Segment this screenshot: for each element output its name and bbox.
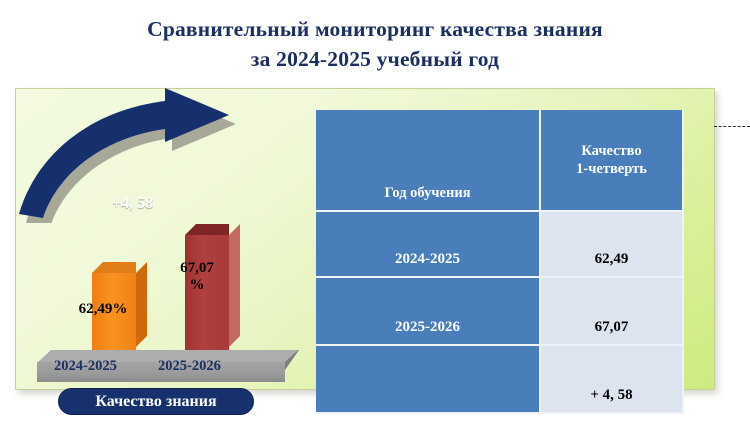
- chart-axis-label-2024-2025: 2024-2025: [54, 358, 117, 375]
- chart-caption-pill: Качество знания: [58, 388, 254, 415]
- quality-table: Год обучения Качество 1-четверть 2024-20…: [316, 110, 684, 414]
- bar-chart: +4, 58 62,49% 67,07 % 2024-2025 2025-202…: [15, 88, 320, 390]
- page-title-line-2: за 2024-2025 учебный год: [0, 44, 750, 74]
- bar-side-face: [229, 224, 240, 347]
- table-cell-delta: + 4, 58: [541, 346, 684, 414]
- table-cell-quality: 67,07: [541, 278, 684, 346]
- page-title-line-1: Сравнительный мониторинг качества знания: [147, 17, 603, 41]
- table-header-quality-line-1: Качество: [581, 143, 641, 159]
- table-header: Год обучения Качество 1-четверть: [316, 110, 684, 212]
- table-cell-quality: 62,49: [541, 212, 684, 278]
- table-row: + 4, 58: [316, 346, 684, 414]
- chart-axis-label-2025-2026: 2025-2026: [158, 358, 221, 375]
- bar-value-2025-2026: 67,07 %: [167, 260, 227, 294]
- table-row: 2025-2026 67,07: [316, 278, 684, 346]
- table-cell-year: 2024-2025: [316, 212, 541, 278]
- table-cell-year: 2025-2026: [316, 278, 541, 346]
- bar-value-2024-2025: 62,49%: [67, 301, 139, 318]
- bar-2025-2026: [185, 235, 229, 358]
- bar-top-face: [92, 262, 136, 273]
- growth-arrow-icon: [15, 88, 305, 223]
- table-header-quality: Качество 1-четверть: [541, 110, 684, 212]
- bar-top-face: [185, 224, 229, 235]
- page-title: Сравнительный мониторинг качества знания…: [0, 14, 750, 74]
- table-body: 2024-2025 62,49 2025-2026 67,07 + 4, 58: [316, 212, 684, 414]
- table-header-row: Год обучения Качество 1-четверть: [316, 110, 684, 212]
- table-header-quality-line-2: 1-четверть: [576, 161, 647, 177]
- table-cell-year: [316, 346, 541, 414]
- table-row: 2024-2025 62,49: [316, 212, 684, 278]
- dashed-connector-line: [714, 126, 750, 127]
- growth-arrow-label: +4, 58: [112, 195, 153, 213]
- bar-front-face: [185, 235, 229, 358]
- table-header-year: Год обучения: [316, 110, 541, 212]
